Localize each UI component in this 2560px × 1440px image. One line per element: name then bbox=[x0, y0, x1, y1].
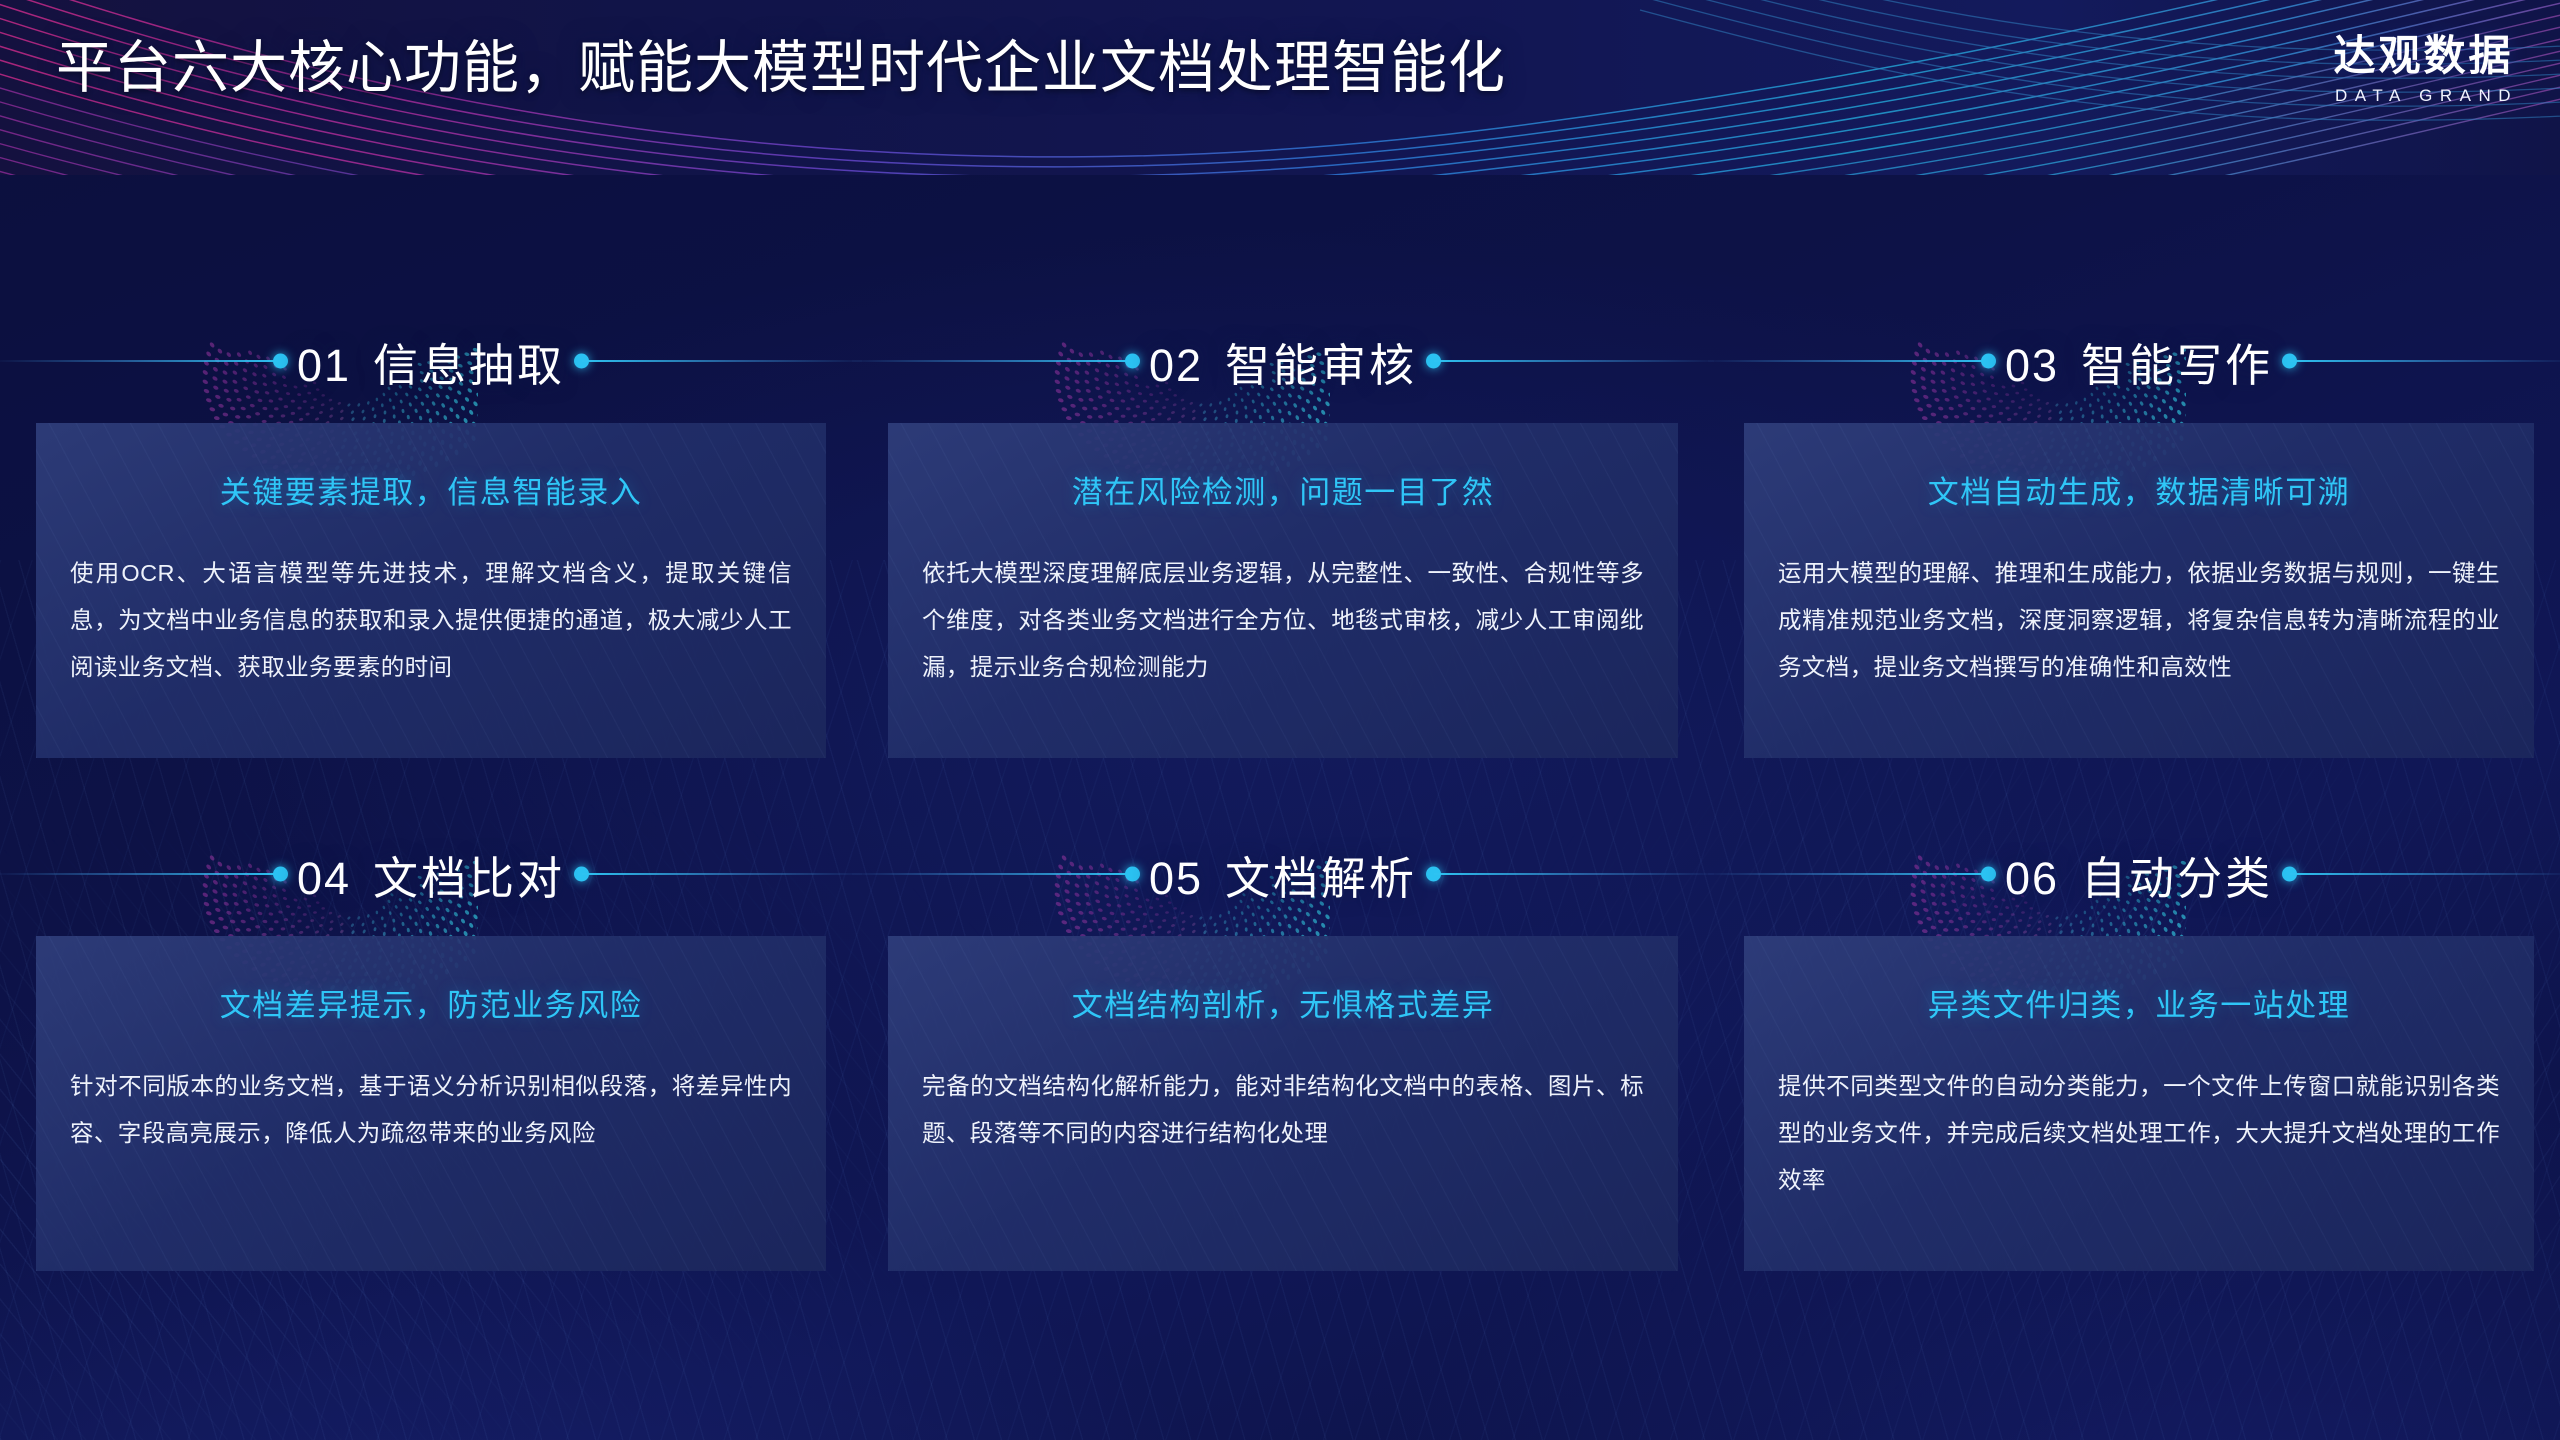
brand-logo-en: DATA GRAND bbox=[2329, 86, 2518, 106]
connector-line-left bbox=[0, 360, 280, 362]
feature-number: 06 bbox=[2005, 853, 2059, 905]
feature-subtitle: 关键要素提取，信息智能录入 bbox=[70, 467, 792, 512]
connector-line-right bbox=[1434, 360, 1714, 362]
feature-header-05: 05 文档解析 bbox=[888, 828, 1678, 920]
feature-card-03[interactable]: 03 智能写作 文档自动生成，数据清晰可溯 运用大模型的理解、推理和生成能力，依… bbox=[1744, 315, 2534, 758]
feature-description: 针对不同版本的业务文档，基于语义分析识别相似段落，将差异性内容、字段高亮展示，降… bbox=[70, 1063, 792, 1157]
feature-card-01[interactable]: 01 信息抽取 关键要素提取，信息智能录入 使用OCR、大语言模型等先进技术，理… bbox=[36, 315, 826, 758]
connector-line-right bbox=[582, 360, 862, 362]
feature-subtitle: 文档差异提示，防范业务风险 bbox=[70, 980, 792, 1025]
feature-subtitle: 潜在风险检测，问题一目了然 bbox=[922, 467, 1644, 512]
connector-dot-left bbox=[273, 354, 288, 369]
connector-dot-left bbox=[1981, 867, 1996, 882]
slide-root: 平台六大核心功能，赋能大模型时代企业文档处理智能化 达观数据 DATA GRAN… bbox=[0, 0, 2560, 1440]
feature-body-04: 文档差异提示，防范业务风险 针对不同版本的业务文档，基于语义分析识别相似段落，将… bbox=[36, 936, 826, 1271]
connector-line-left bbox=[0, 873, 280, 875]
feature-name: 文档比对 bbox=[373, 842, 565, 907]
feature-card-04[interactable]: 04 文档比对 文档差异提示，防范业务风险 针对不同版本的业务文档，基于语义分析… bbox=[36, 828, 826, 1271]
feature-grid: 01 信息抽取 关键要素提取，信息智能录入 使用OCR、大语言模型等先进技术，理… bbox=[0, 175, 2560, 1440]
feature-subtitle: 异类文件归类，业务一站处理 bbox=[1778, 980, 2500, 1025]
page-title: 平台六大核心功能，赋能大模型时代企业文档处理智能化 bbox=[56, 34, 1506, 102]
connector-line-left bbox=[1708, 873, 1988, 875]
connector-dot-left bbox=[273, 867, 288, 882]
brand-logo-cn: 达观数据 bbox=[2329, 34, 2518, 78]
feature-name: 智能审核 bbox=[1225, 329, 1417, 394]
feature-number: 01 bbox=[297, 340, 351, 392]
feature-name: 自动分类 bbox=[2081, 842, 2273, 907]
feature-header-03: 03 智能写作 bbox=[1744, 315, 2534, 407]
feature-header-01: 01 信息抽取 bbox=[36, 315, 826, 407]
feature-card-06[interactable]: 06 自动分类 异类文件归类，业务一站处理 提供不同类型文件的自动分类能力，一个… bbox=[1744, 828, 2534, 1271]
feature-body-05: 文档结构剖析，无惧格式差异 完备的文档结构化解析能力，能对非结构化文档中的表格、… bbox=[888, 936, 1678, 1271]
feature-header-02: 02 智能审核 bbox=[888, 315, 1678, 407]
connector-dot-left bbox=[1125, 867, 1140, 882]
feature-number: 04 bbox=[297, 853, 351, 905]
feature-description: 依托大模型深度理解底层业务逻辑，从完整性、一致性、合规性等多个维度，对各类业务文… bbox=[922, 550, 1644, 691]
feature-number: 03 bbox=[2005, 340, 2059, 392]
feature-body-06: 异类文件归类，业务一站处理 提供不同类型文件的自动分类能力，一个文件上传窗口就能… bbox=[1744, 936, 2534, 1271]
connector-line-right bbox=[2290, 873, 2560, 875]
feature-number: 02 bbox=[1149, 340, 1203, 392]
feature-subtitle: 文档自动生成，数据清晰可溯 bbox=[1778, 467, 2500, 512]
feature-name: 文档解析 bbox=[1225, 842, 1417, 907]
feature-name: 信息抽取 bbox=[373, 329, 565, 394]
connector-line-left bbox=[852, 873, 1132, 875]
feature-description: 提供不同类型文件的自动分类能力，一个文件上传窗口就能识别各类型的业务文件，并完成… bbox=[1778, 1063, 2500, 1204]
connector-line-left bbox=[852, 360, 1132, 362]
connector-line-right bbox=[1434, 873, 1714, 875]
brand-logo: 达观数据 DATA GRAND bbox=[2329, 34, 2518, 106]
connector-line-left bbox=[1708, 360, 1988, 362]
feature-header-06: 06 自动分类 bbox=[1744, 828, 2534, 920]
feature-header-04: 04 文档比对 bbox=[36, 828, 826, 920]
feature-description: 运用大模型的理解、推理和生成能力，依据业务数据与规则，一键生成精准规范业务文档，… bbox=[1778, 550, 2500, 691]
feature-body-01: 关键要素提取，信息智能录入 使用OCR、大语言模型等先进技术，理解文档含义，提取… bbox=[36, 423, 826, 758]
feature-description: 使用OCR、大语言模型等先进技术，理解文档含义，提取关键信息，为文档中业务信息的… bbox=[70, 550, 792, 691]
feature-name: 智能写作 bbox=[2081, 329, 2273, 394]
connector-line-right bbox=[2290, 360, 2560, 362]
feature-card-05[interactable]: 05 文档解析 文档结构剖析，无惧格式差异 完备的文档结构化解析能力，能对非结构… bbox=[888, 828, 1678, 1271]
feature-body-02: 潜在风险检测，问题一目了然 依托大模型深度理解底层业务逻辑，从完整性、一致性、合… bbox=[888, 423, 1678, 758]
connector-dot-left bbox=[1125, 354, 1140, 369]
feature-body-03: 文档自动生成，数据清晰可溯 运用大模型的理解、推理和生成能力，依据业务数据与规则… bbox=[1744, 423, 2534, 758]
header-banner: 平台六大核心功能，赋能大模型时代企业文档处理智能化 达观数据 DATA GRAN… bbox=[0, 0, 2560, 175]
feature-number: 05 bbox=[1149, 853, 1203, 905]
connector-dot-left bbox=[1981, 354, 1996, 369]
feature-subtitle: 文档结构剖析，无惧格式差异 bbox=[922, 980, 1644, 1025]
connector-line-right bbox=[582, 873, 862, 875]
feature-card-02[interactable]: 02 智能审核 潜在风险检测，问题一目了然 依托大模型深度理解底层业务逻辑，从完… bbox=[888, 315, 1678, 758]
feature-description: 完备的文档结构化解析能力，能对非结构化文档中的表格、图片、标题、段落等不同的内容… bbox=[922, 1063, 1644, 1157]
